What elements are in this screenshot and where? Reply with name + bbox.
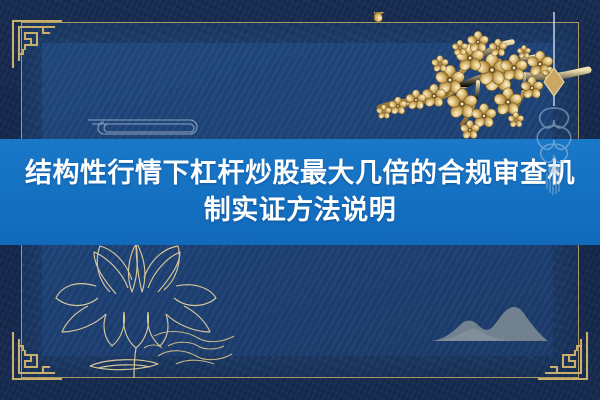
lotus-flower-icon: [28, 228, 248, 378]
chinese-knot-tassel-icon: [526, 8, 582, 198]
title-banner: 结构性行情下杠杆炒股最大几倍的合规审查机制实证方法说明: [0, 139, 600, 245]
poster-canvas: 结构性行情下杠杆炒股最大几倍的合规审查机制实证方法说明: [0, 0, 600, 400]
mountain-silhouette-icon: [430, 299, 550, 345]
chinese-fret-corner-icon: [10, 16, 64, 70]
page-title: 结构性行情下杠杆炒股最大几倍的合规审查机制实证方法说明: [12, 155, 588, 230]
